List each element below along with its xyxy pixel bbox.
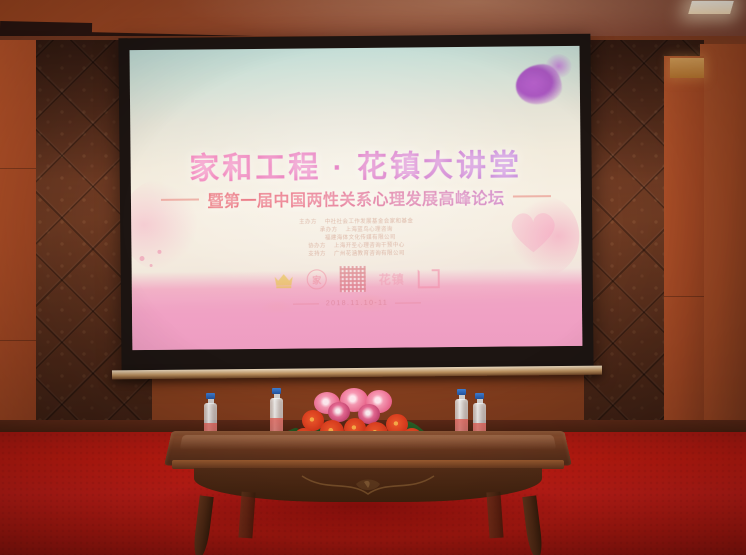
wall-column-right — [664, 56, 704, 440]
event-date: 2018.11.10-11 — [326, 300, 388, 308]
slide-logo-row: 家 花镇 — [132, 264, 582, 294]
subtitle-rule-left — [161, 199, 199, 201]
credit-label: 支持方 — [308, 251, 326, 257]
date-rule-right — [395, 302, 421, 303]
credit-value: 上海开圣心理咨询干预中心 — [334, 243, 405, 250]
qr-code-icon — [340, 266, 366, 292]
column-seam — [0, 340, 36, 341]
conference-hall-scene: 家和工程 · 花镇大讲堂 暨第一届中国两性关系心理发展高峰论坛 主办方中社社会工… — [0, 0, 746, 555]
slide-credits: 主办方中社社会工作发展基金会家和基金 承办方上海蓝鸟心理咨询 福建海体文化传媒有… — [131, 216, 581, 260]
flower-lily — [328, 402, 350, 422]
table-leg-rear-left — [238, 492, 255, 539]
credit-value: 中社社会工作发展基金会家和基金 — [325, 218, 414, 225]
credit-label: 主办方 — [299, 219, 317, 225]
slide-subtitle: 暨第一届中国两性关系心理发展高峰论坛 — [207, 185, 504, 212]
carved-ornament — [298, 470, 438, 500]
column-seam — [664, 296, 704, 297]
projection-screen-frame: 家和工程 · 花镇大讲堂 暨第一届中国两性关系心理发展高峰论坛 主办方中社社会工… — [118, 34, 593, 373]
wall-column-left — [0, 40, 36, 440]
speaker-table — [168, 430, 568, 555]
credit-value: 广州花涵教育咨询有限公司 — [334, 251, 405, 258]
seal-icon: 家 — [307, 269, 327, 289]
table-leg-front-right — [522, 495, 543, 555]
brand-wordmark: 花镇 — [379, 270, 405, 287]
credit-label: 协办方 — [308, 243, 326, 249]
subtitle-rule-right — [512, 195, 550, 197]
credit-label: 承办方 — [320, 227, 338, 233]
credit-value: 福建海体文化传媒有限公司 — [325, 235, 396, 242]
speck — [150, 264, 153, 267]
table-sheen — [180, 435, 557, 450]
crown-icon — [274, 271, 294, 288]
table-leg-rear-right — [486, 492, 503, 539]
bracket-icon — [418, 269, 440, 288]
column-seam — [0, 168, 36, 169]
wall-niche-light — [670, 58, 704, 78]
credit-value: 上海蓝鸟心理咨询 — [345, 227, 392, 233]
table-leg-front-left — [192, 495, 213, 555]
date-rule-left — [293, 303, 319, 304]
slide-subtitle-row: 暨第一届中国两性关系心理发展高峰论坛 — [131, 184, 581, 212]
slide-main-title: 家和工程 · 花镇大讲堂 — [130, 140, 580, 188]
purple-flower-accent — [546, 54, 572, 78]
ceiling-light-panel — [688, 1, 734, 14]
wall-column-far-right — [700, 44, 746, 440]
projection-screen: 家和工程 · 花镇大讲堂 暨第一届中国两性关系心理发展高峰论坛 主办方中社社会工… — [130, 46, 583, 350]
